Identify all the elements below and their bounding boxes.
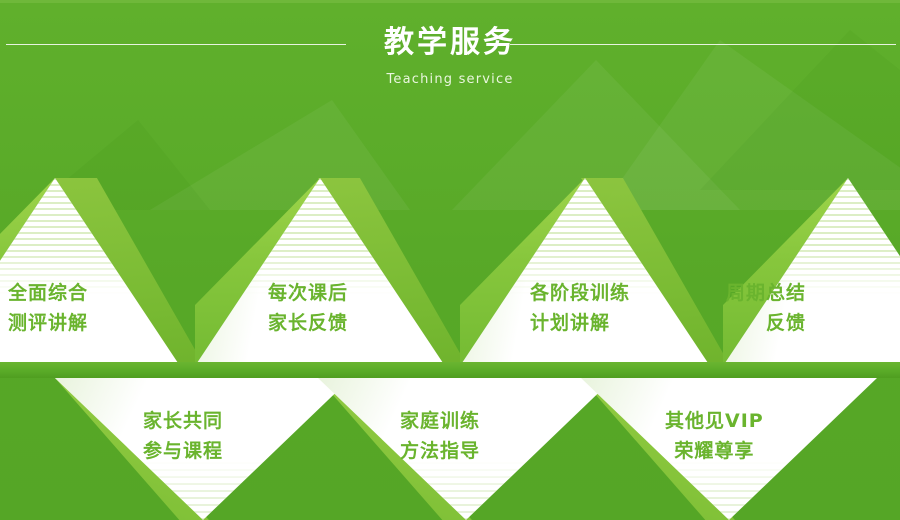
service-label-4-line1: 周期总结 bbox=[726, 278, 806, 308]
service-label-5: 家长共同 参与课程 bbox=[143, 406, 223, 466]
service-label-3: 各阶段训练 计划讲解 bbox=[530, 278, 630, 338]
service-label-4-line2: 反馈 bbox=[726, 308, 806, 338]
service-label-4: 周期总结 反馈 bbox=[726, 278, 806, 338]
teaching-service-banner: 教学服务 Teaching service 全面综合 测评讲解 每次 bbox=[0, 0, 900, 520]
service-label-6: 家庭训练 方法指导 bbox=[400, 406, 480, 466]
service-label-7-line1: 其他见VIP bbox=[665, 406, 764, 436]
service-label-3-line2: 计划讲解 bbox=[530, 308, 630, 338]
page-subtitle: Teaching service bbox=[0, 72, 900, 87]
service-label-1: 全面综合 测评讲解 bbox=[8, 278, 88, 338]
service-label-3-line1: 各阶段训练 bbox=[530, 278, 630, 308]
service-label-2: 每次课后 家长反馈 bbox=[268, 278, 348, 338]
service-label-1-line2: 测评讲解 bbox=[8, 308, 88, 338]
service-label-6-line2: 方法指导 bbox=[400, 436, 480, 466]
service-label-5-line1: 家长共同 bbox=[143, 406, 223, 436]
service-label-1-line1: 全面综合 bbox=[8, 278, 88, 308]
header: 教学服务 Teaching service bbox=[0, 0, 900, 105]
service-label-5-line2: 参与课程 bbox=[143, 436, 223, 466]
page-title: 教学服务 bbox=[0, 22, 900, 64]
service-label-7: 其他见VIP 荣耀尊享 bbox=[665, 406, 764, 466]
service-label-2-line2: 家长反馈 bbox=[268, 308, 348, 338]
service-label-2-line1: 每次课后 bbox=[268, 278, 348, 308]
service-label-6-line1: 家庭训练 bbox=[400, 406, 480, 436]
row-separator-band bbox=[0, 362, 900, 378]
service-label-7-line2: 荣耀尊享 bbox=[665, 436, 764, 466]
